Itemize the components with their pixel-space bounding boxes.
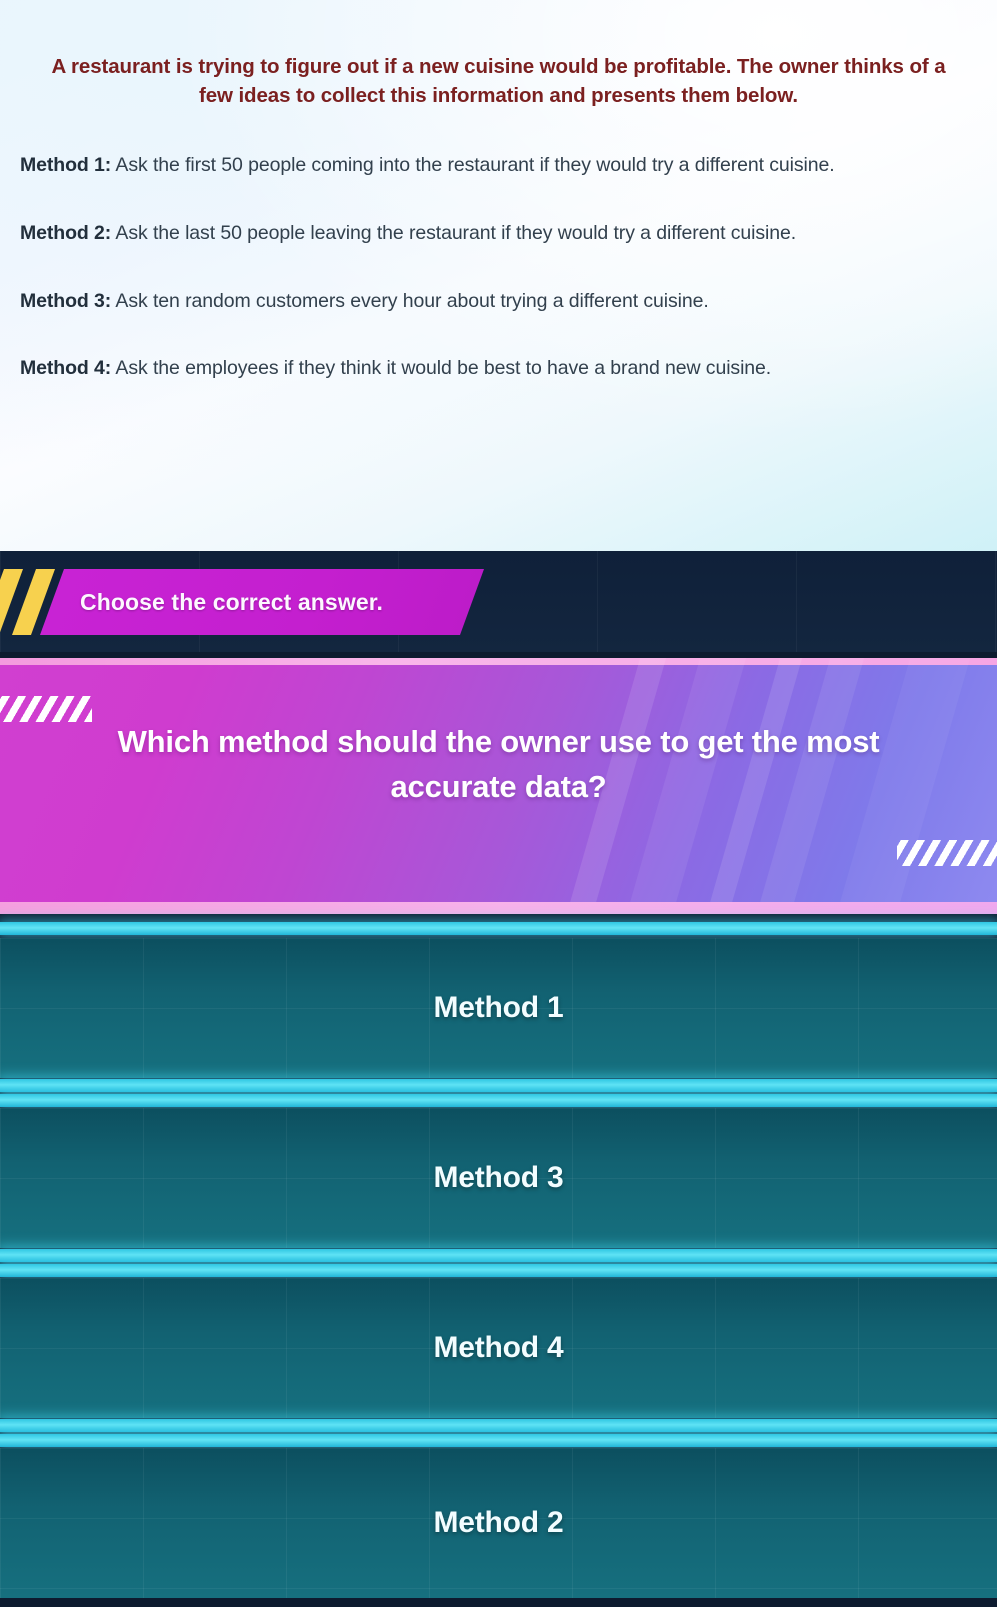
answer-option-label: Method 3 (433, 1161, 563, 1195)
method-list: Method 1: Ask the first 50 people coming… (18, 110, 979, 383)
method-label: Method 2: (20, 222, 111, 244)
method-text: Ask the last 50 people leaving the resta… (111, 222, 796, 244)
method-label: Method 4: (20, 357, 111, 379)
method-item: Method 3: Ask ten random customers every… (20, 288, 977, 316)
hatch-decoration-icon (897, 840, 997, 866)
method-item: Method 2: Ask the last 50 people leaving… (20, 220, 977, 248)
answer-options-list: Method 1 Method 3 Method 4 Method 2 (0, 914, 997, 1607)
panel-bottom-edge (0, 902, 997, 914)
passage-section: A restaurant is trying to figure out if … (0, 0, 997, 551)
method-item: Method 4: Ask the employees if they thin… (20, 355, 977, 383)
answer-option-label: Method 1 (433, 991, 563, 1025)
answer-option-1[interactable]: Method 1 (0, 938, 997, 1078)
answer-option-label: Method 4 (433, 1331, 563, 1365)
method-label: Method 1: (20, 154, 111, 176)
answer-option-3[interactable]: Method 4 (0, 1278, 997, 1418)
method-text: Ask ten random customers every hour abou… (111, 290, 708, 312)
question-panel: Which method should the owner use to get… (0, 658, 997, 914)
quiz-screen: A restaurant is trying to figure out if … (0, 0, 997, 1607)
method-item: Method 1: Ask the first 50 people coming… (20, 152, 977, 180)
answer-divider (0, 914, 997, 938)
method-text: Ask the first 50 people coming into the … (111, 154, 834, 176)
answer-divider (0, 1418, 997, 1448)
passage-prompt: A restaurant is trying to figure out if … (18, 0, 979, 110)
answer-option-label: Method 2 (433, 1506, 563, 1540)
answer-divider (0, 1248, 997, 1278)
instruction-label: Choose the correct answer. (80, 569, 460, 635)
answer-option-2[interactable]: Method 3 (0, 1108, 997, 1248)
method-label: Method 3: (20, 290, 111, 312)
answer-option-4[interactable]: Method 2 (0, 1448, 997, 1598)
hatch-decoration-icon (0, 696, 92, 722)
yellow-slash-decoration (0, 569, 60, 635)
method-text: Ask the employees if they think it would… (111, 357, 771, 379)
answer-divider (0, 1078, 997, 1108)
question-text: Which method should the owner use to get… (0, 720, 997, 810)
